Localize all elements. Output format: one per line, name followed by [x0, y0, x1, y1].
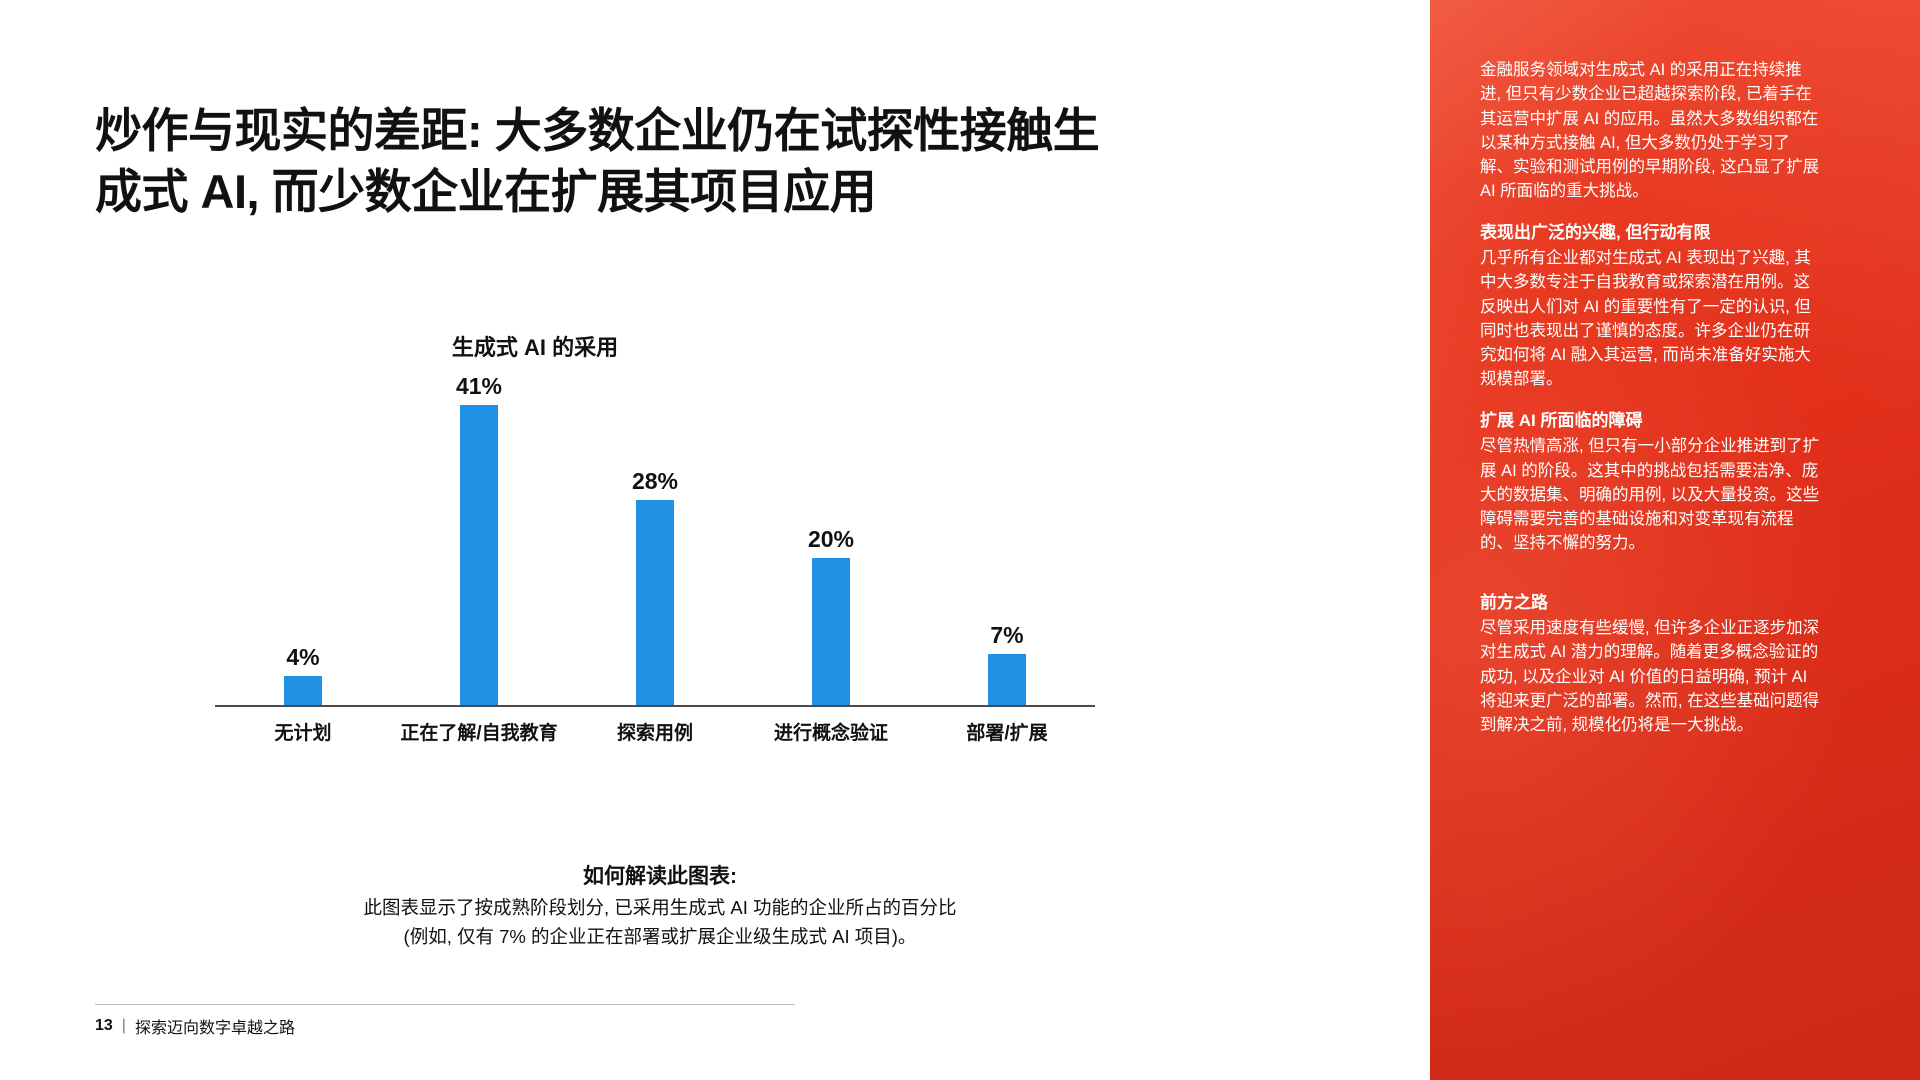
sidebar-block: 扩展 AI 所面临的障碍尽管热情高涨, 但只有一小部分企业推进到了扩展 AI 的… [1480, 409, 1820, 556]
chart-bar-group: 4% [215, 375, 391, 705]
sidebar-block-body: 尽管采用速度有些缓慢, 但许多企业正逐步加深对生成式 AI 潜力的理解。随着更多… [1480, 616, 1820, 737]
chart-bar [812, 558, 850, 705]
sidebar-block-body: 几乎所有企业都对生成式 AI 表现出了兴趣, 其中大多数专注于自我教育或探索潜在… [1480, 246, 1820, 392]
footnote: 如何解读此图表: 此图表显示了按成熟阶段划分, 已采用生成式 AI 功能的企业所… [95, 860, 1225, 951]
sidebar-spacer [1480, 573, 1820, 591]
slide-page: 炒作与现实的差距: 大多数企业仍在试探性接触生成式 AI, 而少数企业在扩展其项… [0, 0, 1920, 1080]
sidebar-block-heading: 表现出广泛的兴趣, 但行动有限 [1480, 221, 1820, 246]
footnote-body: 此图表显示了按成熟阶段划分, 已采用生成式 AI 功能的企业所占的百分比 (例如… [95, 894, 1225, 951]
page-title: 炒作与现实的差距: 大多数企业仍在试探性接触生成式 AI, 而少数企业在扩展其项… [95, 100, 1105, 222]
footer-page-number: 13 [95, 1017, 113, 1035]
chart-bar-value-label: 41% [456, 375, 502, 398]
footnote-line-1: 此图表显示了按成熟阶段划分, 已采用生成式 AI 功能的企业所占的百分比 [95, 894, 1225, 923]
footer-label: 探索迈向数字卓越之路 [135, 1014, 295, 1038]
chart-title: 生成式 AI 的采用 [95, 330, 975, 362]
sidebar-block: 金融服务领域对生成式 AI 的采用正在持续推进, 但只有少数企业已超越探索阶段,… [1480, 58, 1820, 204]
chart-bar [636, 500, 674, 705]
chart-bar [284, 676, 322, 705]
chart-category-label: 无计划 [274, 718, 331, 745]
bar-chart: 生成式 AI 的采用 4%41%28%20%7% 无计划正在了解/自我教育探索用… [95, 330, 1225, 790]
chart-bar-group: 28% [567, 375, 743, 705]
sidebar-content: 金融服务领域对生成式 AI 的采用正在持续推进, 但只有少数企业已超越探索阶段,… [1480, 58, 1820, 754]
main-content-area: 炒作与现实的差距: 大多数企业仍在试探性接触生成式 AI, 而少数企业在扩展其项… [0, 0, 1430, 1080]
sidebar-block-heading: 前方之路 [1480, 591, 1820, 616]
chart-category-label: 正在了解/自我教育 [400, 718, 557, 745]
footnote-heading: 如何解读此图表: [95, 860, 1225, 890]
chart-bar-value-label: 7% [990, 624, 1023, 647]
chart-category-label: 部署/扩展 [966, 718, 1047, 745]
sidebar-panel: 金融服务领域对生成式 AI 的采用正在持续推进, 但只有少数企业已超越探索阶段,… [1430, 0, 1920, 1080]
sidebar-block-heading: 扩展 AI 所面临的障碍 [1480, 409, 1820, 434]
chart-bar-group: 20% [743, 375, 919, 705]
chart-bar-value-label: 4% [286, 646, 319, 669]
sidebar-block-body: 尽管热情高涨, 但只有一小部分企业推进到了扩展 AI 的阶段。这其中的挑战包括需… [1480, 434, 1820, 555]
chart-x-axis-line [215, 705, 1095, 707]
chart-bar [460, 405, 498, 705]
chart-bar [988, 654, 1026, 705]
chart-bar-value-label: 28% [632, 470, 678, 493]
footnote-line-2: (例如, 仅有 7% 的企业正在部署或扩展企业级生成式 AI 项目)。 [95, 923, 1225, 952]
sidebar-block: 表现出广泛的兴趣, 但行动有限几乎所有企业都对生成式 AI 表现出了兴趣, 其中… [1480, 221, 1820, 392]
chart-category-label: 探索用例 [617, 718, 693, 745]
page-footer: 13 | 探索迈向数字卓越之路 [95, 1004, 795, 1038]
chart-category-labels: 无计划正在了解/自我教育探索用例进行概念验证部署/扩展 [215, 718, 1095, 750]
chart-category-label: 进行概念验证 [774, 718, 888, 745]
sidebar-block-body: 金融服务领域对生成式 AI 的采用正在持续推进, 但只有少数企业已超越探索阶段,… [1480, 58, 1820, 204]
chart-bar-value-label: 20% [808, 528, 854, 551]
chart-plot-area: 4%41%28%20%7% [215, 375, 1095, 705]
chart-bar-group: 7% [919, 375, 1095, 705]
footer-separator: | [122, 1017, 126, 1035]
chart-bar-group: 41% [391, 375, 567, 705]
sidebar-block: 前方之路尽管采用速度有些缓慢, 但许多企业正逐步加深对生成式 AI 潜力的理解。… [1480, 591, 1820, 738]
